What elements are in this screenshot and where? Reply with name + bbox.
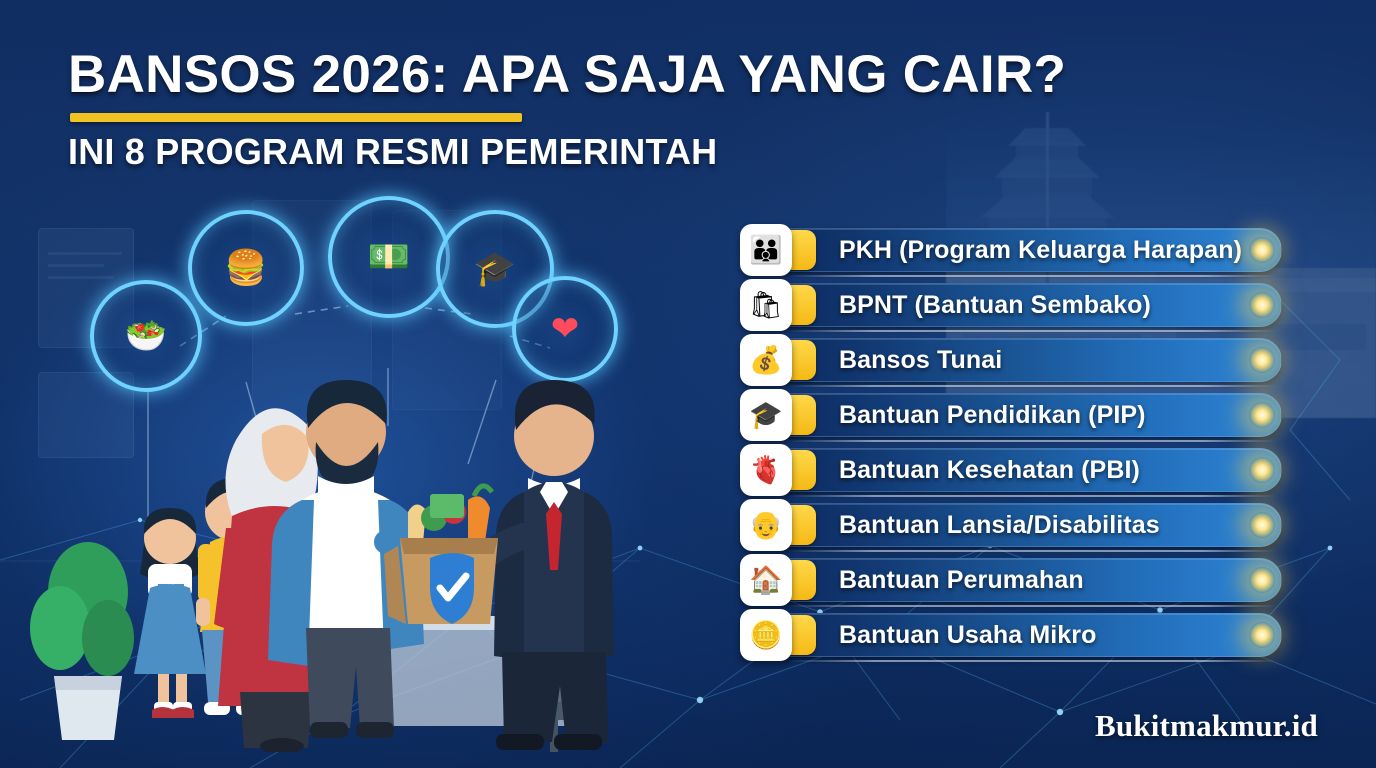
bar-underline	[786, 330, 1276, 332]
bar-underline	[786, 440, 1276, 442]
badge-glyph: 🛍	[749, 292, 783, 319]
bar-glow-light	[1249, 457, 1275, 483]
program-bar[interactable]: BPNT (Bantuan Sembako)	[784, 283, 1282, 327]
program-label: Bantuan Lansia/Disabilitas	[839, 511, 1160, 540]
cash-money-icon: 💵	[368, 240, 410, 274]
hand-coin-icon: 🪙	[740, 609, 792, 661]
tower-tier-2	[1002, 174, 1092, 196]
graduation-cap-icon: 🎓	[474, 252, 516, 286]
bubble-groceries: 🍔	[188, 210, 304, 326]
site-watermark: Bukitmakmur.id	[1095, 708, 1318, 744]
bar-glow-light	[1249, 237, 1275, 263]
program-bar[interactable]: Bantuan Perumahan	[784, 558, 1282, 602]
program-label: PKH (Program Keluarga Harapan)	[839, 236, 1242, 265]
family-and-officer-illustration	[30, 316, 670, 752]
program-label: Bantuan Pendidikan (PIP)	[839, 401, 1146, 430]
infographic-canvas: BANSOS 2026: APA SAJA YANG CAIR? INI 8 P…	[0, 0, 1376, 768]
hands-holding-family-money-icon: 👪	[740, 224, 792, 276]
bar-glow-light	[1249, 567, 1275, 593]
house-icon: 🏠	[740, 554, 792, 606]
program-bar[interactable]: Bantuan Usaha Mikro	[784, 613, 1282, 657]
program-list: PKH (Program Keluarga Harapan) 👪 BPNT (B…	[740, 228, 1300, 668]
badge-glyph: 💰	[749, 347, 783, 374]
bubble-cash: 💵	[328, 196, 450, 318]
list-item[interactable]: Bantuan Kesehatan (PBI) 🫀	[740, 448, 1300, 492]
bar-underline	[786, 660, 1276, 662]
program-bar[interactable]: Bantuan Lansia/Disabilitas	[784, 503, 1282, 547]
page-subtitle: INI 8 PROGRAM RESMI PEMERINTAH	[68, 131, 1066, 173]
badge-glyph: 🪙	[749, 622, 783, 649]
bar-glow-light	[1249, 347, 1275, 373]
elderly-couple-icon: 👴	[740, 499, 792, 551]
bar-glow-light	[1249, 622, 1275, 648]
program-label: Bantuan Usaha Mikro	[839, 621, 1097, 650]
bar-underline	[786, 495, 1276, 497]
potted-plant	[30, 542, 134, 740]
hand-graduation-cap-icon: 🎓	[740, 389, 792, 441]
program-bar[interactable]: Bansos Tunai	[784, 338, 1282, 382]
hand-money-bag-icon: 💰	[740, 334, 792, 386]
badge-glyph: 👪	[749, 237, 783, 264]
page-title: BANSOS 2026: APA SAJA YANG CAIR?	[68, 48, 1066, 102]
program-bar[interactable]: Bantuan Pendidikan (PIP)	[784, 393, 1282, 437]
badge-glyph: 🏠	[749, 567, 783, 594]
program-label: Bansos Tunai	[839, 346, 1002, 375]
list-item[interactable]: PKH (Program Keluarga Harapan) 👪	[740, 228, 1300, 272]
tower-roof-3	[980, 192, 1114, 218]
badge-glyph: 🎓	[749, 402, 783, 429]
bar-glow-light	[1249, 512, 1275, 538]
groceries-bag-icon: 🍔	[225, 251, 267, 285]
list-item[interactable]: Bantuan Lansia/Disabilitas 👴	[740, 503, 1300, 547]
list-item[interactable]: Bantuan Pendidikan (PIP) 🎓	[740, 393, 1300, 437]
bar-underline	[786, 275, 1276, 277]
program-bar[interactable]: PKH (Program Keluarga Harapan)	[784, 228, 1282, 272]
bar-underline	[786, 550, 1276, 552]
program-label: Bantuan Kesehatan (PBI)	[839, 456, 1140, 485]
list-item[interactable]: Bantuan Usaha Mikro 🪙	[740, 613, 1300, 657]
header-block: BANSOS 2026: APA SAJA YANG CAIR? INI 8 P…	[68, 48, 1066, 173]
list-item[interactable]: BPNT (Bantuan Sembako) 🛍	[740, 283, 1300, 327]
grocery-bag-icon: 🛍	[740, 279, 792, 331]
program-bar[interactable]: Bantuan Kesehatan (PBI)	[784, 448, 1282, 492]
illustration-scene: 🥗 🍔 💵 🎓 ❤	[30, 196, 670, 752]
bar-underline	[786, 605, 1276, 607]
bar-underline	[786, 385, 1276, 387]
bar-glow-light	[1249, 402, 1275, 428]
badge-glyph: 👴	[749, 512, 783, 539]
program-label: Bantuan Perumahan	[839, 566, 1084, 595]
title-underline-accent	[70, 113, 522, 122]
hands-heart-icon: 🫀	[740, 444, 792, 496]
program-label: BPNT (Bantuan Sembako)	[839, 291, 1151, 320]
badge-glyph: 🫀	[749, 457, 783, 484]
list-item[interactable]: Bansos Tunai 💰	[740, 338, 1300, 382]
bar-glow-light	[1249, 292, 1275, 318]
child-girl	[134, 508, 206, 718]
list-item[interactable]: Bantuan Perumahan 🏠	[740, 558, 1300, 602]
